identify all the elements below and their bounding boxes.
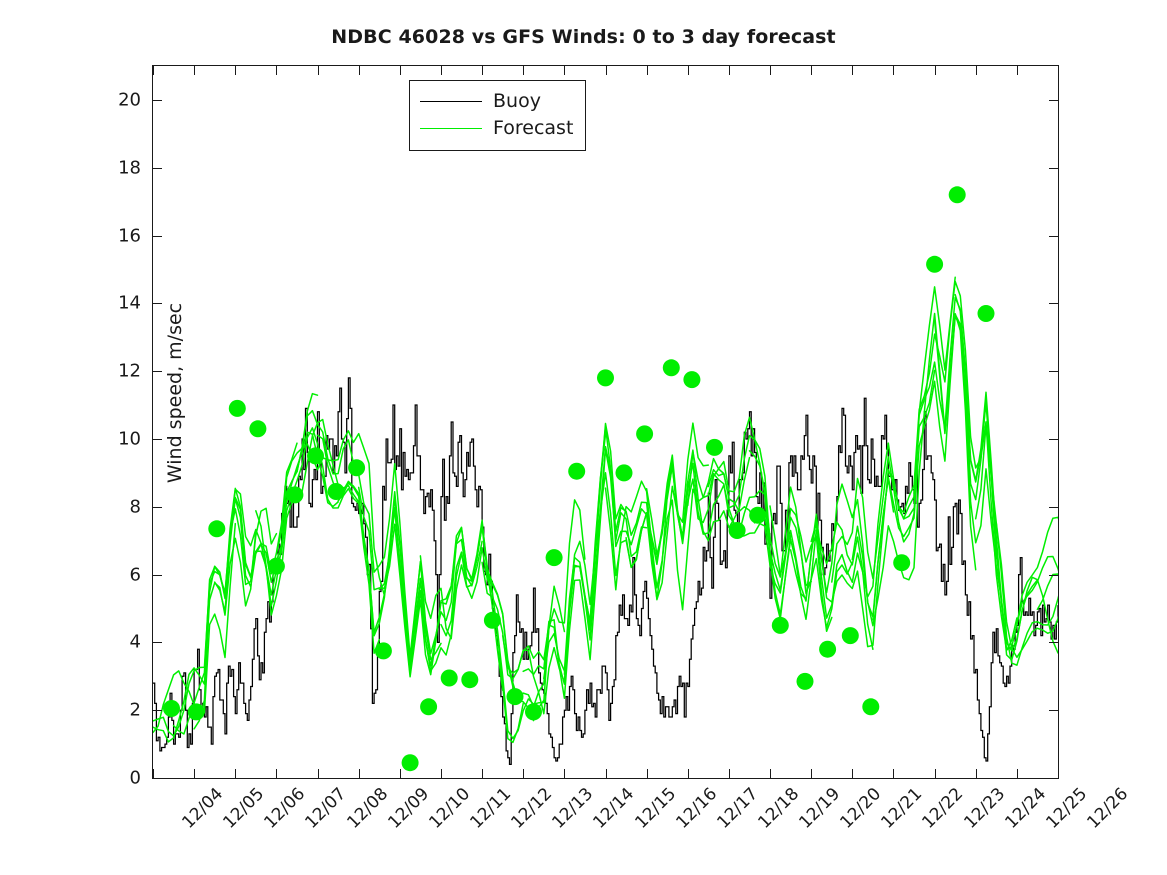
forecast-marker	[249, 420, 266, 437]
chart-figure: NDBC 46028 vs GFS Winds: 0 to 3 day fore…	[0, 0, 1167, 875]
x-tick-mark-top	[1058, 66, 1059, 75]
plot-canvas	[153, 66, 1058, 778]
forecast-cycle-line	[935, 316, 1058, 653]
x-tick-label: 12/10	[425, 784, 474, 833]
y-tick-mark-right	[1049, 575, 1058, 576]
x-tick-label: 12/06	[261, 784, 310, 833]
y-tick-mark-right	[1049, 303, 1058, 304]
x-tick-label: 12/05	[219, 784, 268, 833]
x-tick-mark	[441, 769, 442, 778]
x-tick-label: 12/18	[754, 784, 803, 833]
x-tick-mark-top	[441, 66, 442, 75]
x-tick-label: 12/24	[1001, 784, 1050, 833]
y-tick-mark-right	[1049, 168, 1058, 169]
y-tick-mark	[153, 507, 162, 508]
forecast-marker	[926, 256, 943, 273]
x-tick-mark-top	[153, 66, 154, 75]
x-tick-label: 12/21	[878, 784, 927, 833]
x-tick-label: 12/11	[466, 784, 515, 833]
chart-legend: Buoy Forecast	[409, 80, 586, 151]
x-tick-label: 12/25	[1042, 784, 1091, 833]
x-tick-label: 12/20	[837, 784, 886, 833]
forecast-marker	[286, 486, 303, 503]
plot-area: Wind speed, m/sec 02468101214161820 12/0…	[152, 65, 1059, 779]
x-tick-label: 12/26	[1083, 784, 1132, 833]
forecast-marker	[663, 359, 680, 376]
forecast-cycle-line	[894, 281, 1017, 650]
y-tick-mark	[153, 439, 162, 440]
x-tick-mark	[770, 769, 771, 778]
x-tick-mark-top	[400, 66, 401, 75]
y-tick-mark-right	[1049, 371, 1058, 372]
x-tick-mark-top	[647, 66, 648, 75]
legend-label-buoy: Buoy	[493, 92, 541, 111]
y-tick-mark	[153, 236, 162, 237]
forecast-marker	[597, 369, 614, 386]
x-tick-mark	[893, 769, 894, 778]
x-tick-mark-top	[935, 66, 936, 75]
x-tick-mark-top	[976, 66, 977, 75]
forecast-marker	[819, 641, 836, 658]
x-tick-mark-top	[770, 66, 771, 75]
x-tick-mark-top	[606, 66, 607, 75]
forecast-marker	[348, 459, 365, 476]
x-tick-mark-top	[811, 66, 812, 75]
forecast-marker	[375, 642, 392, 659]
y-tick-mark	[153, 168, 162, 169]
x-tick-mark	[564, 769, 565, 778]
x-tick-label: 12/15	[631, 784, 680, 833]
y-tick-mark	[153, 303, 162, 304]
y-tick-mark	[153, 642, 162, 643]
forecast-marker	[208, 520, 225, 537]
x-tick-label: 12/09	[384, 784, 433, 833]
forecast-marker	[568, 463, 585, 480]
y-tick-label: 12	[118, 361, 141, 382]
x-tick-mark	[935, 769, 936, 778]
y-tick-label: 4	[130, 632, 141, 653]
y-tick-mark-right	[1049, 507, 1058, 508]
y-tick-mark-right	[1049, 100, 1058, 101]
y-tick-label: 20	[118, 89, 141, 110]
y-tick-mark	[153, 710, 162, 711]
y-tick-label: 6	[130, 564, 141, 585]
x-tick-mark	[852, 769, 853, 778]
x-tick-mark	[318, 769, 319, 778]
x-tick-mark-top	[276, 66, 277, 75]
forecast-marker	[461, 671, 478, 688]
x-tick-mark-top	[688, 66, 689, 75]
forecast-marker	[683, 371, 700, 388]
x-tick-label: 12/12	[507, 784, 556, 833]
x-tick-mark	[194, 769, 195, 778]
x-tick-mark-top	[523, 66, 524, 75]
forecast-marker	[893, 554, 910, 571]
forecast-marker	[616, 464, 633, 481]
x-tick-mark	[688, 769, 689, 778]
x-tick-mark	[647, 769, 648, 778]
x-tick-label: 12/04	[178, 784, 227, 833]
forecast-marker	[507, 688, 524, 705]
forecast-marker	[229, 400, 246, 417]
x-tick-mark-top	[235, 66, 236, 75]
legend-label-forecast: Forecast	[493, 119, 573, 138]
x-tick-mark	[276, 769, 277, 778]
y-tick-label: 10	[118, 428, 141, 449]
forecast-cycle-line	[1037, 574, 1058, 609]
forecast-marker	[420, 698, 437, 715]
x-tick-mark-top	[1017, 66, 1018, 75]
x-tick-label: 12/19	[795, 784, 844, 833]
x-tick-mark	[811, 769, 812, 778]
forecast-marker	[328, 483, 345, 500]
forecast-marker	[163, 700, 180, 717]
forecast-marker	[842, 627, 859, 644]
x-tick-mark-top	[318, 66, 319, 75]
y-tick-mark-right	[1049, 710, 1058, 711]
forecast-cycle-line	[523, 449, 646, 698]
y-tick-mark	[153, 371, 162, 372]
x-tick-label: 12/22	[919, 784, 968, 833]
x-tick-label: 12/17	[713, 784, 762, 833]
legend-swatch-forecast	[420, 128, 482, 129]
forecast-marker	[797, 673, 814, 690]
legend-swatch-buoy	[420, 101, 482, 102]
y-tick-mark-right	[1049, 439, 1058, 440]
x-tick-mark	[153, 769, 154, 778]
x-tick-mark	[1017, 769, 1018, 778]
forecast-marker	[307, 447, 324, 464]
y-tick-label: 8	[130, 496, 141, 517]
y-tick-label: 16	[118, 225, 141, 246]
x-tick-mark	[359, 769, 360, 778]
y-tick-mark	[153, 575, 162, 576]
x-tick-mark-top	[482, 66, 483, 75]
x-tick-label: 12/23	[960, 784, 1009, 833]
x-tick-mark	[523, 769, 524, 778]
forecast-marker	[188, 703, 205, 720]
x-tick-label: 12/13	[549, 784, 598, 833]
x-tick-mark-top	[564, 66, 565, 75]
y-tick-mark	[153, 100, 162, 101]
y-tick-label: 18	[118, 157, 141, 178]
forecast-cycle-line	[544, 427, 667, 679]
x-tick-mark-top	[729, 66, 730, 75]
forecast-marker	[636, 425, 653, 442]
forecast-cycle-line	[194, 394, 317, 729]
x-tick-mark-top	[852, 66, 853, 75]
y-tick-label: 2	[130, 700, 141, 721]
y-tick-label: 0	[130, 768, 141, 789]
x-tick-mark	[606, 769, 607, 778]
forecast-marker	[441, 670, 458, 687]
forecast-marker	[978, 305, 995, 322]
y-axis-label: Wind speed, m/sec	[164, 193, 186, 593]
x-tick-mark-top	[893, 66, 894, 75]
x-tick-mark	[235, 769, 236, 778]
legend-item-forecast: Forecast	[420, 115, 573, 142]
x-tick-label: 12/08	[343, 784, 392, 833]
forecast-marker	[268, 558, 285, 575]
forecast-marker	[749, 507, 766, 524]
forecast-marker	[484, 612, 501, 629]
y-tick-mark-right	[1049, 642, 1058, 643]
x-tick-mark	[729, 769, 730, 778]
forecast-marker	[706, 439, 723, 456]
forecast-marker	[402, 754, 419, 771]
y-tick-mark-right	[1049, 236, 1058, 237]
forecast-marker	[949, 186, 966, 203]
x-tick-mark	[1058, 769, 1059, 778]
x-tick-mark-top	[194, 66, 195, 75]
x-tick-label: 12/14	[590, 784, 639, 833]
x-tick-mark	[482, 769, 483, 778]
forecast-marker	[772, 617, 789, 634]
forecast-marker	[546, 549, 563, 566]
x-tick-label: 12/07	[302, 784, 351, 833]
x-tick-mark	[976, 769, 977, 778]
forecast-marker	[862, 698, 879, 715]
x-tick-label: 12/16	[672, 784, 721, 833]
forecast-marker-layer	[163, 186, 995, 771]
y-tick-mark-right	[1049, 778, 1058, 779]
forecast-marker	[525, 703, 542, 720]
y-tick-mark	[153, 778, 162, 779]
legend-item-buoy: Buoy	[420, 88, 573, 115]
y-tick-label: 14	[118, 293, 141, 314]
x-tick-mark	[400, 769, 401, 778]
x-tick-mark-top	[359, 66, 360, 75]
forecast-marker	[729, 522, 746, 539]
chart-title: NDBC 46028 vs GFS Winds: 0 to 3 day fore…	[0, 26, 1167, 48]
